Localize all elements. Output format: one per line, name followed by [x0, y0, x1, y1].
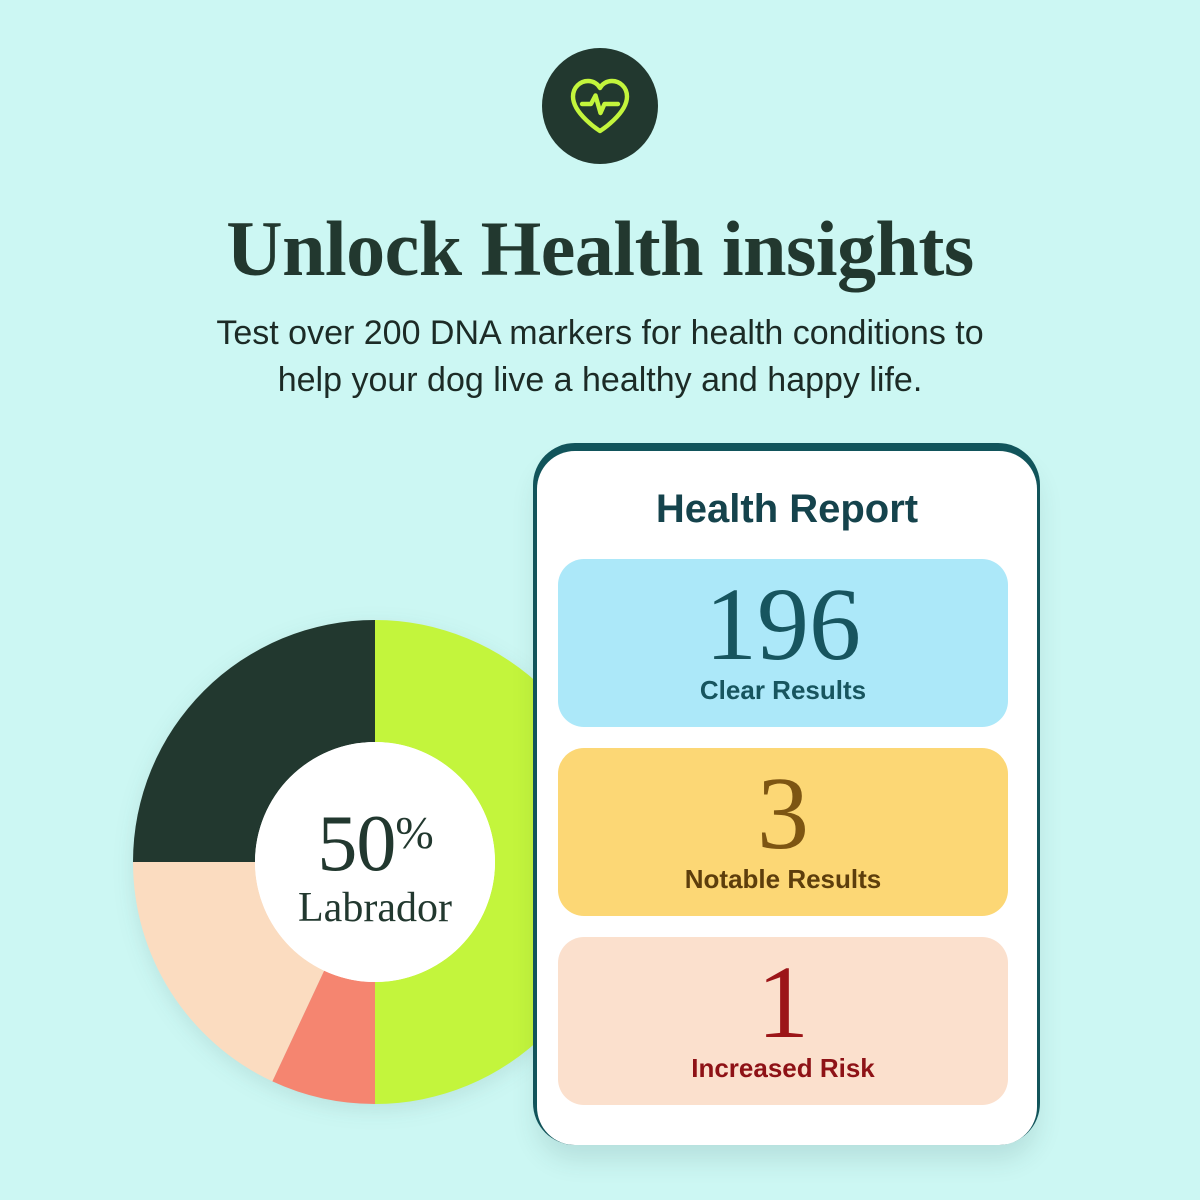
donut-breed-name: Labrador [298, 885, 452, 931]
heart-pulse-icon [569, 77, 631, 135]
donut-percent-value: 50 [317, 800, 395, 888]
page-subtitle-line-1: Test over 200 DNA markers for health con… [130, 310, 1070, 357]
stat-card-increased-risk[interactable]: 1 Increased Risk [558, 937, 1008, 1105]
donut-percent-symbol: % [395, 807, 432, 858]
page-subtitle: Test over 200 DNA markers for health con… [130, 310, 1070, 404]
stat-label-increased-risk: Increased Risk [558, 1053, 1008, 1083]
poster-canvas: Unlock Health insights Test over 200 DNA… [0, 0, 1200, 1200]
stat-label-clear-results: Clear Results [558, 675, 1008, 705]
stat-card-clear-results[interactable]: 196 Clear Results [558, 559, 1008, 727]
stat-value-increased-risk: 1 [558, 937, 1008, 1057]
donut-percent: 50% [317, 796, 432, 881]
donut-center-label: 50% Labrador [255, 742, 495, 982]
brand-logo-badge [542, 48, 658, 164]
stat-card-notable-results[interactable]: 3 Notable Results [558, 748, 1008, 916]
page-subtitle-line-2: help your dog live a healthy and happy l… [130, 357, 1070, 404]
stat-value-clear-results: 196 [558, 559, 1008, 679]
page-title: Unlock Health insights [0, 206, 1200, 292]
health-report-title: Health Report [537, 486, 1037, 532]
stat-value-notable-results: 3 [558, 748, 1008, 868]
health-report-card: Health Report 196 Clear Results 3 Notabl… [537, 451, 1037, 1145]
stat-label-notable-results: Notable Results [558, 864, 1008, 894]
